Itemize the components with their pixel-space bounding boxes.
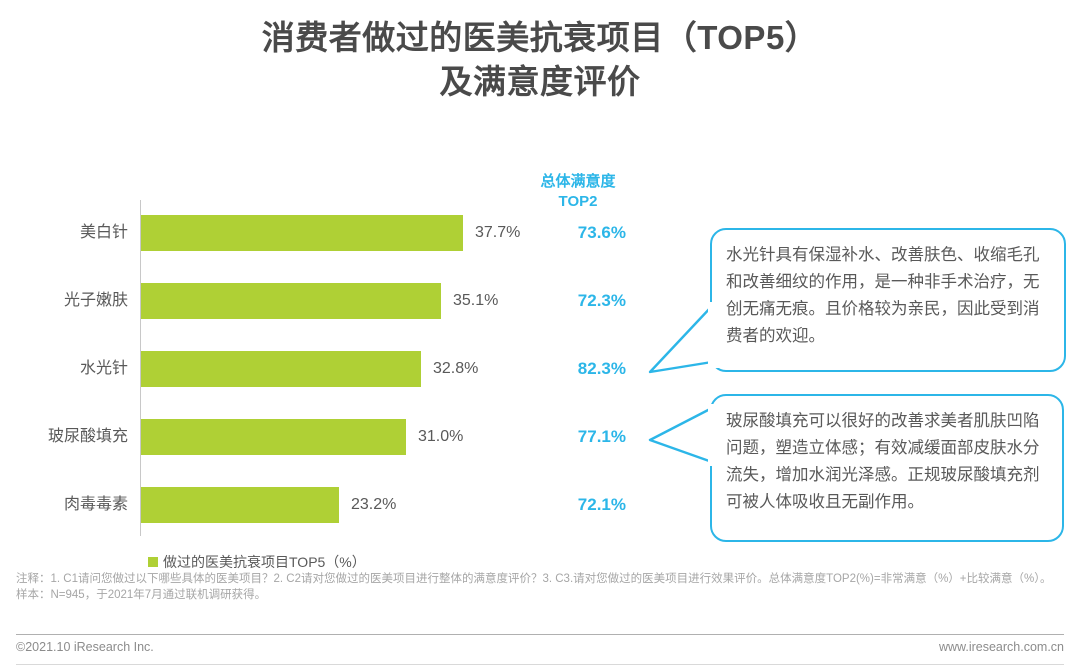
category-label: 美白针 (0, 215, 128, 251)
bar-mark[interactable] (141, 351, 421, 387)
satisfaction-value: 82.3% (520, 351, 626, 387)
chart-row: 水光针 32.8% 82.3% (0, 351, 700, 387)
footer-bottom-divider (16, 664, 1064, 665)
footnotes: 注释：1. C1请问您做过以下哪些具体的医美项目？2. C2请对您做过的医美项目… (16, 572, 1068, 603)
bar-value-label: 31.0% (418, 419, 463, 455)
shuiguangzhen-callout: 水光针具有保湿补水、改善肤色、收缩毛孔和改善细纹的作用，是一种非手术治疗，无创无… (710, 228, 1066, 372)
satisfaction-value: 72.1% (520, 487, 626, 523)
category-label: 水光针 (0, 351, 128, 387)
slide-canvas: 消费者做过的医美抗衰项目（TOP5） 及满意度评价 总体满意度 TOP2 美白针… (0, 0, 1080, 672)
chart-legend: 做过的医美抗衰项目TOP5（%） (148, 552, 366, 572)
footer-divider (16, 634, 1064, 635)
bar-chart: 美白针 37.7% 73.6% 光子嫩肤 35.1% 72.3% 水光针 32.… (0, 0, 700, 560)
bar-mark[interactable] (141, 487, 339, 523)
satisfaction-value: 77.1% (520, 419, 626, 455)
bar-mark[interactable] (141, 419, 406, 455)
footer-url[interactable]: www.iresearch.com.cn (939, 640, 1064, 654)
satisfaction-value: 72.3% (520, 283, 626, 319)
chart-row: 光子嫩肤 35.1% 72.3% (0, 283, 700, 319)
legend-label: 做过的医美抗衰项目TOP5（%） (163, 552, 366, 572)
category-label: 肉毒毒素 (0, 487, 128, 523)
bar-value-label: 32.8% (433, 351, 478, 387)
callout-text: 玻尿酸填充可以很好的改善求美者肌肤凹陷问题，塑造立体感；有效减缓面部皮肤水分流失… (726, 412, 1040, 511)
boniaosuan-callout: 玻尿酸填充可以很好的改善求美者肌肤凹陷问题，塑造立体感；有效减缓面部皮肤水分流失… (710, 394, 1064, 542)
footer: ©2021.10 iResearch Inc. www.iresearch.co… (16, 640, 1064, 654)
chart-row: 美白针 37.7% 73.6% (0, 215, 700, 251)
chart-row: 玻尿酸填充 31.0% 77.1% (0, 419, 700, 455)
bar-value-label: 35.1% (453, 283, 498, 319)
legend-swatch-icon (148, 557, 158, 567)
category-label: 玻尿酸填充 (0, 419, 128, 455)
footer-copyright: ©2021.10 iResearch Inc. (16, 640, 154, 654)
footnote-line-1: 注释：1. C1请问您做过以下哪些具体的医美项目？2. C2请对您做过的医美项目… (16, 572, 1068, 588)
satisfaction-value: 73.6% (520, 215, 626, 251)
callout-text: 水光针具有保湿补水、改善肤色、收缩毛孔和改善细纹的作用，是一种非手术治疗，无创无… (726, 246, 1040, 345)
bar-mark[interactable] (141, 283, 441, 319)
footnote-line-2: 样本：N=945，于2021年7月通过联机调研获得。 (16, 588, 1068, 604)
bar-mark[interactable] (141, 215, 463, 251)
category-label: 光子嫩肤 (0, 283, 128, 319)
bar-value-label: 37.7% (475, 215, 520, 251)
bar-value-label: 23.2% (351, 487, 396, 523)
chart-row: 肉毒毒素 23.2% 72.1% (0, 487, 700, 523)
